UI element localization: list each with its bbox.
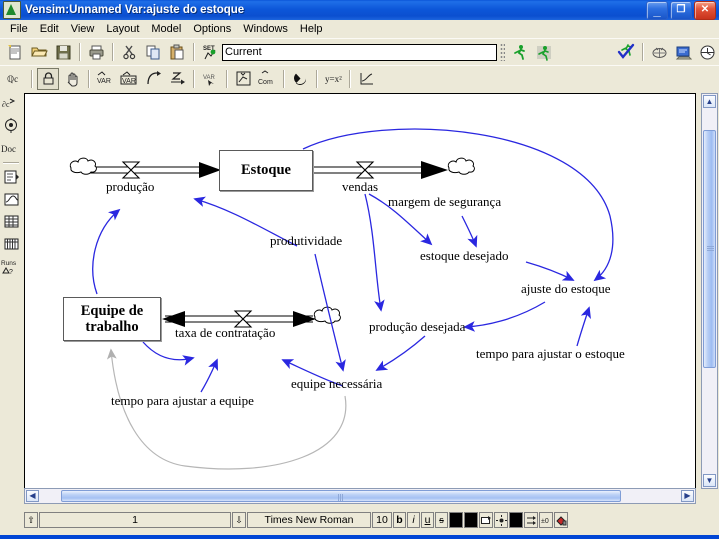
svg-text:Com: Com: [258, 79, 273, 86]
svg-text:VAR: VAR: [122, 78, 136, 85]
estoque-desejado-aux-label[interactable]: estoque desejado: [420, 249, 508, 263]
toolbar-separator: [31, 70, 32, 88]
print-icon[interactable]: [85, 41, 107, 63]
page-number-field[interactable]: 1: [39, 512, 231, 528]
new-model-icon[interactable]: [4, 41, 26, 63]
paste-icon[interactable]: [166, 41, 188, 63]
open-model-icon[interactable]: [28, 41, 50, 63]
svg-text:VAR: VAR: [97, 78, 111, 85]
link-vendas-to-producao-desejada: [365, 194, 381, 310]
shape-icon[interactable]: [479, 512, 493, 528]
set-run-name-icon[interactable]: SET: [199, 41, 221, 63]
svg-text:Runs: Runs: [1, 260, 17, 267]
rate-valve-icon[interactable]: [166, 68, 188, 90]
line-color-swatch[interactable]: [509, 512, 523, 528]
bold-button[interactable]: b: [393, 512, 406, 528]
box-variable-icon[interactable]: VAR: [118, 68, 140, 90]
toolbar-separator: [316, 70, 317, 88]
link-tempo-estoque-to-ajuste: [577, 308, 589, 346]
comment-icon[interactable]: Com: [256, 68, 278, 90]
equation-icon[interactable]: y=x²: [322, 68, 344, 90]
table-icon[interactable]: [1, 211, 21, 232]
vendas-flow-label[interactable]: vendas: [342, 180, 378, 194]
output-window-icon[interactable]: [672, 41, 694, 63]
produtividade-aux-label[interactable]: produtividade: [270, 234, 342, 248]
menu-file[interactable]: File: [4, 22, 34, 36]
units-check-icon[interactable]: [648, 41, 670, 63]
time-axis-icon[interactable]: [696, 41, 718, 63]
resize-icon[interactable]: [524, 512, 538, 528]
vensim-app-icon: [3, 1, 21, 19]
horizontal-scroll-thumb[interactable]: [61, 490, 621, 502]
font-size-field[interactable]: 10: [372, 512, 392, 528]
menu-windows[interactable]: Windows: [237, 22, 294, 36]
toolbar-separator: [79, 43, 80, 61]
paint-icon[interactable]: [554, 512, 568, 528]
graph-icon[interactable]: [1, 189, 21, 210]
main-toolbar: SET: [0, 38, 719, 65]
title-bar: Vensim:Unnamed Var:ajuste do estoque _ ❐…: [0, 0, 719, 20]
equipe-necessaria-aux-label[interactable]: equipe necessária: [291, 377, 382, 391]
menu-edit[interactable]: Edit: [34, 22, 65, 36]
tempo-para-ajustar-a-equipe-aux-label[interactable]: tempo para ajustar a equipe: [111, 394, 254, 408]
ajuste-do-estoque-aux-label[interactable]: ajuste do estoque: [521, 282, 611, 296]
restore-button[interactable]: ❐: [670, 1, 692, 20]
causes-strip-icon[interactable]: [1, 167, 21, 188]
toolbar-separator: [112, 43, 113, 61]
scroll-down-button[interactable]: ▼: [703, 474, 716, 487]
menu-view[interactable]: View: [65, 22, 101, 36]
link-equipe-necessaria-shadow-to-equipe: [111, 350, 346, 469]
restore-icon: ❐: [671, 2, 691, 19]
scroll-right-button[interactable]: ▶: [681, 490, 694, 502]
producao-flow-pipe: [70, 158, 221, 178]
link-tempo-equipe-to-taxa: [201, 360, 217, 392]
analysis-sidebar: ∂c Doc Runs?: [0, 91, 22, 505]
italic-button[interactable]: i: [407, 512, 420, 528]
abc-text-icon[interactable]: ℚc: [4, 68, 26, 90]
link-ajuste-to-producao-desejada: [465, 302, 545, 327]
window-title: Vensim:Unnamed Var:ajuste do estoque: [25, 4, 646, 16]
runs-compare-icon[interactable]: Runs?: [1, 255, 21, 276]
producao-desejada-aux-label[interactable]: produção desejada: [369, 320, 465, 334]
variable-icon[interactable]: VAR: [94, 68, 116, 90]
page-up-button[interactable]: ⇧: [24, 512, 38, 528]
check-model-icon[interactable]: [615, 41, 637, 63]
toolbar-separator: [226, 70, 227, 88]
estoque-stock[interactable]: Estoque: [219, 150, 313, 191]
toolbar-grip: [500, 43, 505, 61]
menu-layout[interactable]: Layout: [100, 22, 145, 36]
toolbar-separator: [283, 70, 284, 88]
save-model-icon[interactable]: [52, 41, 74, 63]
arrow-icon[interactable]: [142, 68, 164, 90]
menu-bar: File Edit View Layout Model Options Wind…: [0, 20, 719, 38]
underline-button[interactable]: u: [421, 512, 434, 528]
arrowhead-icon[interactable]: [494, 512, 508, 528]
svg-text:±0: ±0: [541, 518, 549, 525]
producao-flow-label[interactable]: produção: [106, 180, 154, 194]
fill-color-swatch[interactable]: [464, 512, 478, 528]
svg-text:?: ?: [9, 269, 13, 275]
text-color-swatch[interactable]: [449, 512, 463, 528]
menu-model[interactable]: Model: [145, 22, 187, 36]
vensim-application-window: Vensim:Unnamed Var:ajuste do estoque _ ❐…: [0, 0, 719, 539]
cut-icon[interactable]: [118, 41, 140, 63]
estoque-stock-label: Estoque: [241, 162, 291, 178]
toolbar-separator: [349, 70, 350, 88]
simulate-options-icon[interactable]: [533, 41, 555, 63]
status-bar: ⇧ 1 ⇩ Times New Roman 10 b i u s ±0: [0, 505, 719, 535]
updown-icon[interactable]: ±0: [539, 512, 553, 528]
current-run-input[interactable]: [222, 44, 497, 61]
strikethrough-button[interactable]: s: [435, 512, 448, 528]
table-time-down-icon[interactable]: [1, 233, 21, 254]
link-margem-to-estoque-desejado: [462, 216, 476, 246]
delete-icon[interactable]: [289, 68, 311, 90]
simulate-icon[interactable]: [509, 41, 531, 63]
reference-modes-icon[interactable]: [355, 68, 377, 90]
toolbar-separator: [88, 70, 89, 88]
model-diagram-canvas[interactable]: Estoque Equipe detrabalho produção venda…: [24, 93, 696, 489]
equipe-de-trabalho-stock-label: Equipe detrabalho: [81, 303, 143, 335]
toolbar-separator: [193, 70, 194, 88]
link-equipe-to-producao: [93, 210, 119, 294]
font-name-field[interactable]: Times New Roman: [247, 512, 371, 528]
loops-icon[interactable]: [1, 115, 21, 136]
sketch-toolbar: ℚc VAR VAR VAR Com: [0, 65, 719, 91]
link-equipe-to-taxa: [143, 342, 193, 360]
vertical-scrollbar[interactable]: ▲ ▼: [701, 93, 718, 489]
menu-help[interactable]: Help: [294, 22, 329, 36]
toolbar-separator: [193, 43, 194, 61]
page-down-button[interactable]: ⇩: [232, 512, 246, 528]
document-icon[interactable]: Doc: [1, 137, 21, 158]
toolbar-separator: [642, 43, 643, 61]
vertical-scroll-thumb[interactable]: [703, 130, 716, 368]
link-producao-desejada-to-equipe-necessaria: [377, 336, 425, 370]
close-button[interactable]: ✕: [694, 1, 716, 20]
minimize-icon: _: [647, 2, 667, 19]
window-buttons: _ ❐ ✕: [646, 1, 716, 20]
svg-text:VAR: VAR: [203, 75, 216, 81]
shadow-variable-icon[interactable]: VAR: [199, 68, 221, 90]
link-estoque-desejado-to-ajuste: [526, 262, 573, 280]
scroll-left-button[interactable]: ◀: [26, 490, 39, 502]
causes-tree-icon[interactable]: ∂c: [1, 93, 21, 114]
equipe-de-trabalho-stock[interactable]: Equipe detrabalho: [63, 297, 161, 341]
margem-de-seguranca-aux-label[interactable]: margem de segurança: [388, 195, 501, 209]
sidebar-separator: [3, 162, 19, 163]
svg-text:∂c: ∂c: [2, 100, 10, 109]
lock-icon[interactable]: [37, 68, 59, 90]
taxa-de-contratacao-flow-label[interactable]: taxa de contratação: [175, 326, 275, 340]
menu-options[interactable]: Options: [187, 22, 237, 36]
copy-icon[interactable]: [142, 41, 164, 63]
move-hand-icon[interactable]: [61, 68, 83, 90]
tempo-para-ajustar-o-estoque-aux-label[interactable]: tempo para ajustar o estoque: [476, 347, 625, 361]
scroll-up-button[interactable]: ▲: [703, 95, 716, 108]
close-icon: ✕: [695, 2, 715, 19]
sketch-canvas-area: Estoque Equipe detrabalho produção venda…: [22, 91, 719, 505]
shadow-links: [111, 350, 346, 469]
svg-text:Doc: Doc: [1, 144, 16, 154]
input-output-icon[interactable]: [232, 68, 254, 90]
minimize-button[interactable]: _: [646, 1, 668, 20]
svg-text:ℚc: ℚc: [7, 74, 18, 84]
vendas-flow-pipe: [314, 158, 474, 179]
horizontal-scrollbar[interactable]: ◀ ▶: [24, 488, 696, 504]
svg-text:y=x²: y=x²: [325, 74, 342, 84]
window-bottom-edge: [0, 535, 719, 539]
